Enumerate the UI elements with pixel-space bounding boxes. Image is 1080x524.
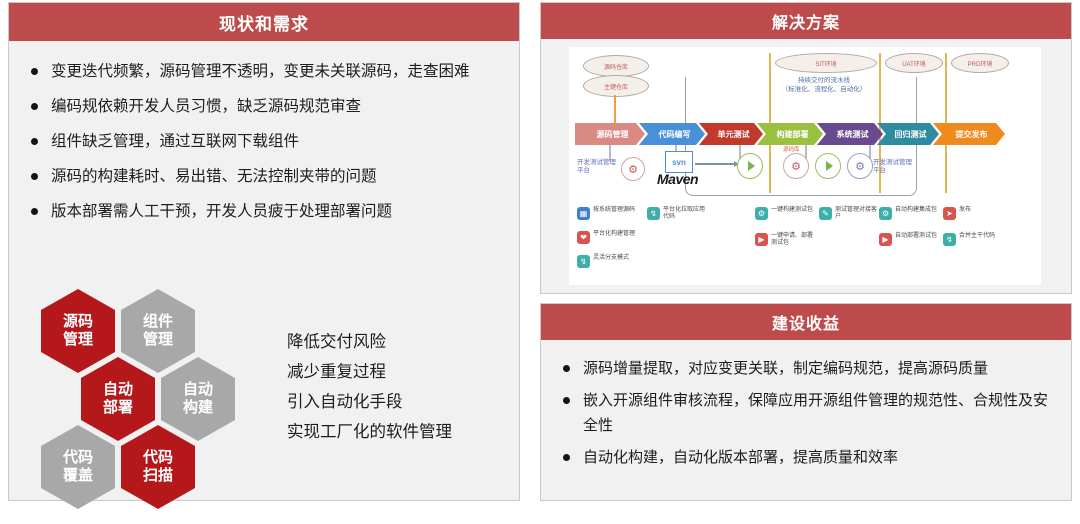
play-icon: ▶ (879, 233, 892, 246)
repository-artifact: 主键仓库 (583, 75, 649, 97)
legend-item: ↯ 合并主干代码 (943, 233, 995, 246)
legend-label: 自动部署测试包 (895, 233, 937, 240)
legend-item: ↯ 平台化拉取应用代码 (647, 207, 709, 221)
pipeline-caption-line2: （标准化、流程化、自动化） (769, 86, 879, 94)
branch-icon: ↯ (577, 255, 590, 268)
panel-benefit: 建设收益 源码增量提取，对应变更关联，制定编码规范，提高源码质量 嵌入开源组件审… (540, 303, 1072, 501)
list-item: 组件缺乏管理，通过互联网下载组件 (31, 129, 505, 155)
panel-solution-title: 解决方案 (541, 3, 1071, 39)
package-icon: ⚙ (879, 207, 892, 220)
hexagon-label-line2: 管理 (63, 331, 93, 349)
list-item: 编码规依赖开发人员习惯，缺乏源码规范审查 (31, 94, 505, 120)
platform-label-right: 开发测试管理平台 (873, 159, 915, 175)
legend-label: 合并主干代码 (959, 233, 995, 240)
merge-icon: ↯ (943, 233, 956, 246)
panel-solution-body: 源码仓库 主键仓库 SIT环境 UAT环境 PRD环境 持续交付的流水线 （标准… (541, 39, 1071, 293)
hexagon-label-line2: 部署 (103, 399, 133, 417)
pipeline-caption-line1: 持续交付的流水线 (769, 77, 879, 85)
legend-item: ▶ 一键申请、部署测试包 (755, 233, 817, 247)
list-item: 源码的构建耗时、易出错、无法控制夹带的问题 (31, 164, 505, 190)
hexagon-label-line1: 代码 (143, 449, 173, 467)
legend-item: ✎ 测试管理对接客户 (819, 207, 881, 221)
hexagon-code-coverage: 代码 覆盖 (41, 425, 115, 509)
current-bullet-list: 变更迭代频繁，源码管理不透明，变更未关联源码，走查困难 编码规依赖开发人员习惯，… (9, 41, 519, 225)
hexagon-component-management: 组件 管理 (121, 289, 195, 373)
hexagon-code-scan: 代码 扫描 (121, 425, 195, 509)
hexagon-label-line1: 自动 (183, 381, 213, 399)
legend-item: ⚙ 一键构建测试包 (755, 207, 813, 220)
repo-connector-line (614, 95, 616, 123)
stage-source-management[interactable]: 源码管理 (575, 123, 645, 145)
hexagon-label-line1: 自动 (103, 381, 133, 399)
stage-regression-test[interactable]: 回归测试 (877, 123, 939, 145)
gear-icon: ⚙ (783, 153, 809, 179)
legend-label: 平台化拉取应用代码 (663, 207, 709, 221)
list-item: 源码增量提取，对应变更关联，制定编码规范，提高源码质量 (563, 356, 1057, 381)
legend-item: ▶ 自动部署测试包 (879, 233, 937, 246)
svn-logo: svn (665, 151, 693, 173)
repo-tag-label: 源码库 (783, 145, 800, 153)
stage-build-deploy[interactable]: 构建部署 (757, 123, 823, 145)
environment-prd: PRD环境 (951, 53, 1009, 73)
legend-label: 发布 (959, 207, 971, 214)
play-icon: ▶ (755, 233, 768, 246)
goal-item: 减少重复过程 (287, 357, 517, 387)
environment-uat: UAT环境 (885, 53, 943, 73)
hexagon-label-line2: 管理 (143, 331, 173, 349)
goal-item: 引入自动化手段 (287, 387, 517, 417)
panel-current-body: 变更迭代频繁，源码管理不透明，变更未关联源码，走查困难 编码规依赖开发人员习惯，… (9, 41, 519, 500)
flow-arrow (695, 163, 735, 165)
legend-item: ➤ 发布 (943, 207, 971, 220)
gear-icon: ⚙ (621, 157, 645, 181)
send-icon: ➤ (943, 207, 956, 220)
list-item: 变更迭代频繁，源码管理不透明，变更未关联源码，走查困难 (31, 59, 505, 85)
stage-unit-test[interactable]: 单元测试 (699, 123, 763, 145)
goal-list: 降低交付风险 减少重复过程 引入自动化手段 实现工厂化的软件管理 (287, 327, 517, 447)
hexagon-cluster: 源码 管理 组件 管理 自动 部署 自动 构建 代码 覆盖 (33, 289, 273, 524)
panel-benefit-title: 建设收益 (541, 304, 1071, 340)
legend-label: 一键申请、部署测试包 (771, 233, 817, 247)
panel-current-title: 现状和需求 (9, 3, 519, 41)
heart-icon: ❤ (577, 231, 590, 244)
cicd-pipeline-diagram: 源码仓库 主键仓库 SIT环境 UAT环境 PRD环境 持续交付的流水线 （标准… (569, 47, 1041, 285)
goal-item: 实现工厂化的软件管理 (287, 417, 517, 447)
hexagon-label-line1: 源码 (63, 313, 93, 331)
hexagon-label-line2: 扫描 (143, 467, 173, 485)
legend-item: ❤ 平台化构建管理 (577, 231, 635, 244)
legend-label: 测试管理对接客户 (835, 207, 881, 221)
list-item: 版本部署需人工干预，开发人员疲于处理部署问题 (31, 199, 505, 225)
legend-item: ↯ 灵活分支模式 (577, 255, 629, 268)
grid-icon: ▦ (577, 207, 590, 220)
panel-current-situation: 现状和需求 变更迭代频繁，源码管理不透明，变更未关联源码，走查困难 编码规依赖开… (8, 2, 520, 501)
benefit-bullet-list: 源码增量提取，对应变更关联，制定编码规范，提高源码质量 嵌入开源组件审核流程，保… (541, 340, 1071, 470)
branch-icon: ↯ (647, 207, 660, 220)
stage-code-writing[interactable]: 代码编写 (639, 123, 705, 145)
hexagon-auto-deploy: 自动 部署 (81, 357, 155, 441)
panel-solution: 解决方案 源码仓库 主键仓库 SIT环境 UAT环境 PRD环境 持续交付的流水… (540, 2, 1072, 294)
hexagon-label-line1: 组件 (143, 313, 173, 331)
legend-label: 自动构建集成包 (895, 207, 937, 214)
legend-label: 按系统管理源码 (593, 207, 635, 214)
play-icon (815, 153, 841, 179)
legend-label: 灵活分支模式 (593, 255, 629, 262)
play-icon (737, 153, 763, 179)
stage-release[interactable]: 提交发布 (933, 123, 1005, 145)
list-item: 嵌入开源组件审核流程，保障应用开源组件管理的规范性、合规性及安全性 (563, 388, 1057, 438)
maven-logo: Maven (657, 171, 698, 187)
hexagon-auto-build: 自动 构建 (161, 357, 235, 441)
legend-item: ⚙ 自动构建集成包 (879, 207, 937, 220)
environment-sit: SIT环境 (775, 53, 877, 73)
package-icon: ⚙ (755, 207, 768, 220)
document-icon: ✎ (819, 207, 832, 220)
gear-icon: ⚙ (847, 153, 873, 179)
list-item: 自动化构建，自动化版本部署，提高质量和效率 (563, 445, 1057, 470)
hexagon-label-line1: 代码 (63, 449, 93, 467)
panel-benefit-body: 源码增量提取，对应变更关联，制定编码规范，提高源码质量 嵌入开源组件审核流程，保… (541, 340, 1071, 500)
platform-label-left: 开发测试管理平台 (577, 159, 619, 175)
goal-item: 降低交付风险 (287, 327, 517, 357)
pipeline-stage-row: 源码管理 代码编写 单元测试 构建部署 系统测试 回归测试 提交发布 (575, 123, 1035, 145)
hexagon-label-line2: 构建 (183, 399, 213, 417)
stage-system-test[interactable]: 系统测试 (817, 123, 883, 145)
legend-label: 一键构建测试包 (771, 207, 813, 214)
legend-label: 平台化构建管理 (593, 231, 635, 238)
hexagon-source-code-management: 源码 管理 (41, 289, 115, 373)
slide-canvas: 现状和需求 变更迭代频繁，源码管理不透明，变更未关联源码，走查困难 编码规依赖开… (0, 0, 1080, 503)
legend-item: ▦ 按系统管理源码 (577, 207, 635, 220)
hexagon-label-line2: 覆盖 (63, 467, 93, 485)
repository-source: 源码仓库 (583, 55, 649, 77)
